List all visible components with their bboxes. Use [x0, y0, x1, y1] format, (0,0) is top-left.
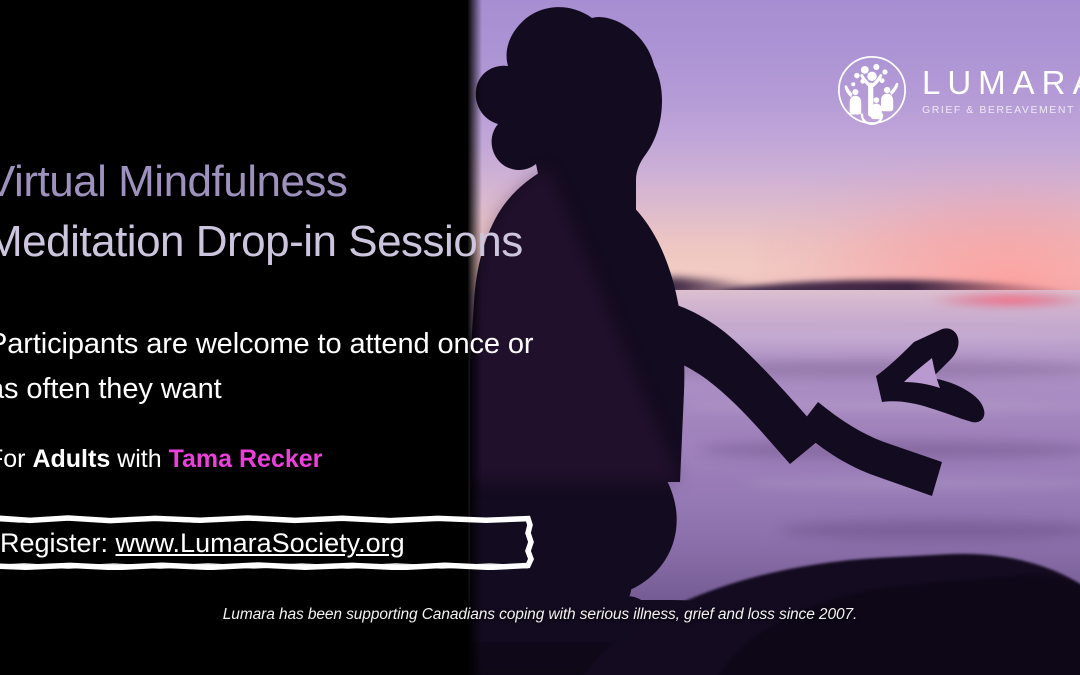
poster-content: Virtual Mindfulness Meditation Drop-in S…	[0, 0, 700, 675]
register-label: Register:	[0, 528, 116, 558]
register-text: Register: www.LumaraSociety.org	[0, 527, 405, 559]
poster-canvas: Virtual Mindfulness Meditation Drop-in S…	[0, 0, 1080, 675]
lumara-logo[interactable]: LUMARA GRIEF & BEREAVEMENT CARE	[836, 50, 1080, 130]
register-callout-box[interactable]: Register: www.LumaraSociety.org	[0, 515, 542, 570]
organization-tagline: Lumara has been supporting Canadians cop…	[0, 604, 1080, 626]
headline-line-1: Virtual Mindfulness	[0, 155, 706, 209]
audience-line: For Adults with Tama Recker	[0, 443, 322, 476]
audience-prefix: For	[0, 445, 32, 473]
logo-subtitle: GRIEF & BEREAVEMENT CARE	[922, 103, 1080, 117]
logo-wordmark: LUMARA GRIEF & BEREAVEMENT CARE	[922, 63, 1080, 117]
description-line-2: as often they want	[0, 370, 708, 408]
logo-name: LUMARA	[922, 65, 1080, 101]
register-url-link[interactable]: www.LumaraSociety.org	[116, 528, 405, 558]
audience-group: Adults	[32, 445, 110, 473]
lumara-tree-figures-icon	[836, 54, 908, 126]
facilitator-name: Tama Recker	[169, 445, 323, 473]
audience-connector: with	[110, 445, 168, 473]
headline-line-2: Meditation Drop-in Sessions	[0, 215, 706, 269]
description-line-1: Participants are welcome to attend once …	[0, 325, 708, 363]
